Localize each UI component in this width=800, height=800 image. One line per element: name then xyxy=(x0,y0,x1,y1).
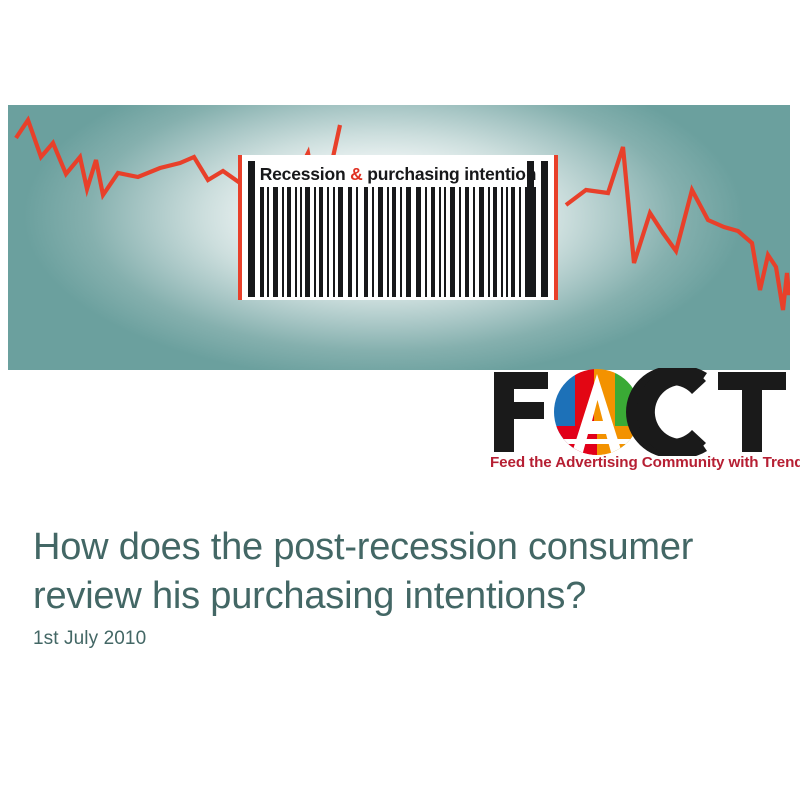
barcode-bar-pattern xyxy=(242,187,554,297)
document-date: 1st July 2010 xyxy=(33,628,146,650)
barcode-paper: Recession & purchasing intention xyxy=(242,155,554,300)
fact-tagline: Feed the Advertising Community with Tren… xyxy=(490,454,790,471)
fact-logo: Feed the Advertising Community with Tren… xyxy=(490,368,790,480)
logo-letter-f xyxy=(494,372,548,452)
barcode-graphic: Recession & purchasing intention xyxy=(238,155,558,300)
hero-banner: Recession & purchasing intention xyxy=(8,105,790,370)
page-title-line-2: review his purchasing intentions? xyxy=(33,572,753,621)
barcode-title: Recession & purchasing intention xyxy=(242,161,554,187)
fact-wordmark xyxy=(490,368,790,456)
logo-letter-t xyxy=(718,372,786,452)
line-series-right xyxy=(566,147,790,310)
barcode-guard-bar-left xyxy=(248,161,255,297)
barcode-guard-bar-right-outer xyxy=(527,161,534,297)
page-title: How does the post-recession consumer rev… xyxy=(33,523,753,621)
barcode-guard-bar-right-inner xyxy=(541,161,548,297)
barcode-bars xyxy=(242,187,554,297)
barcode-title-prefix: Recession xyxy=(260,164,350,184)
barcode-rail-right xyxy=(554,155,558,300)
page-title-line-1: How does the post-recession consumer xyxy=(33,523,753,572)
barcode-title-ampersand: & xyxy=(350,164,362,184)
barcode-title-suffix: purchasing intention xyxy=(363,164,537,184)
